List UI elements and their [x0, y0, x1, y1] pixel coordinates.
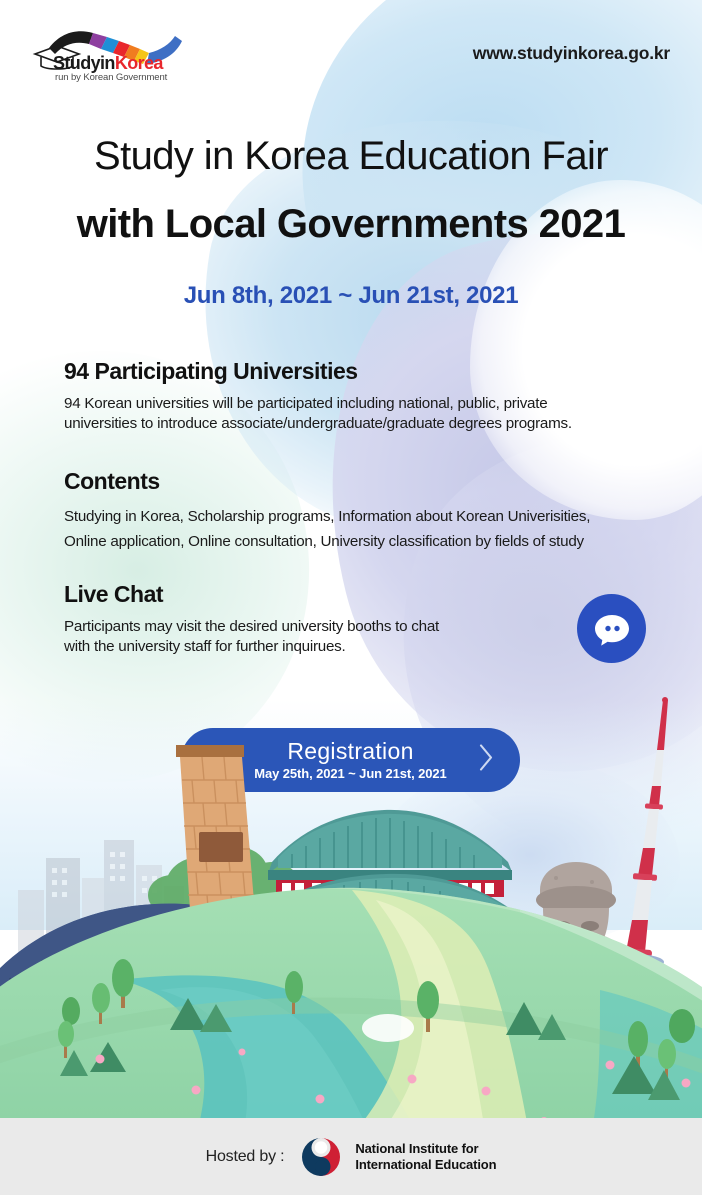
section-body-line: with the university staff for further in… — [64, 637, 439, 657]
organization-name-line1: National Institute for — [355, 1141, 496, 1157]
section-body-line: Participants may visit the desired unive… — [64, 617, 439, 637]
organization-name: National Institute for International Edu… — [355, 1141, 496, 1173]
hosted-by-label: Hosted by : — [206, 1148, 285, 1166]
poster-title: Study in Korea Education Fair with Local… — [0, 122, 702, 258]
title-line-2: with Local Governments 2021 — [0, 190, 702, 258]
site-url[interactable]: www.studyinkorea.go.kr — [473, 43, 670, 64]
section-body-line: Studying in Korea, Scholarship programs,… — [64, 504, 590, 529]
event-date-range: Jun 8th, 2021 ~ Jun 21st, 2021 — [0, 282, 702, 310]
footer: Hosted by : National Institute for Inter… — [0, 1118, 702, 1195]
section-body-line: 94 Korean universities will be participa… — [64, 394, 572, 414]
chat-bubble-icon[interactable] — [577, 594, 646, 663]
section-universities: 94 Participating Universities 94 Korean … — [64, 358, 572, 433]
organization-name-line2: International Education — [355, 1157, 496, 1173]
section-live-chat: Live Chat Participants may visit the des… — [64, 581, 439, 656]
studyinkorea-logo[interactable]: StudyinKorea run by Korean Government — [27, 28, 202, 80]
section-heading: 94 Participating Universities — [64, 358, 572, 385]
section-body-line: universities to introduce associate/unde… — [64, 414, 572, 434]
niied-taegeuk-logo — [300, 1136, 342, 1178]
logo-wordmark-dark: Studyin — [53, 53, 115, 73]
section-contents: Contents Studying in Korea, Scholarship … — [64, 468, 590, 554]
korea-landmarks-illustration — [0, 690, 702, 1118]
logo-tagline: run by Korean Government — [55, 72, 167, 83]
cloud — [362, 1014, 414, 1042]
section-heading: Contents — [64, 468, 590, 495]
poster-root: StudyinKorea run by Korean Government ww… — [0, 0, 702, 1195]
section-body-line: Online application, Online consultation,… — [64, 529, 590, 554]
logo-wordmark-accent: Korea — [115, 53, 163, 73]
section-heading: Live Chat — [64, 581, 439, 608]
title-line-1: Study in Korea Education Fair — [0, 122, 702, 190]
